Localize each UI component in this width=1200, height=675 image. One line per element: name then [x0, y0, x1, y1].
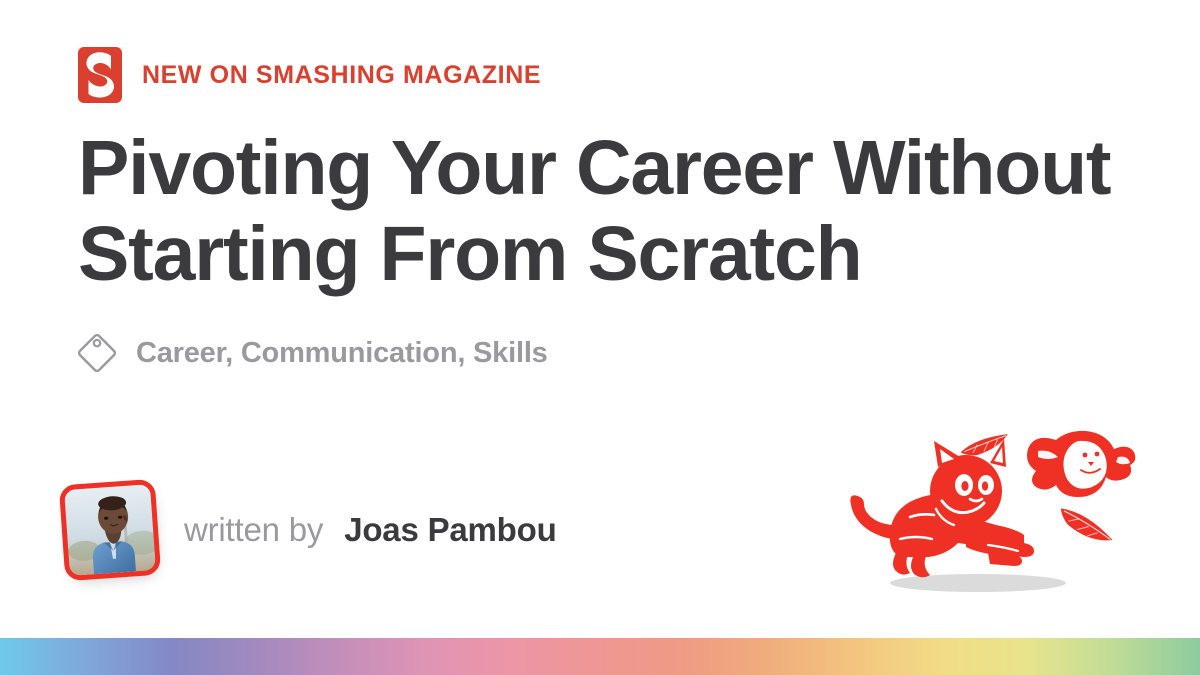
rainbow-accent-bar: [0, 638, 1200, 675]
article-title-line-1: Pivoting Your Career Without: [78, 125, 1158, 211]
kicker-label: NEW ON SMASHING MAGAZINE: [142, 63, 541, 88]
flying-bird-icon: [1027, 431, 1135, 497]
article-title: Pivoting Your Career Without Starting Fr…: [78, 125, 1158, 297]
avatar-frame: [59, 479, 161, 581]
author-name: Joas Pambou: [344, 511, 556, 548]
ground-shadow-icon: [890, 574, 1066, 592]
avatar: [59, 479, 161, 581]
running-cat-icon: [850, 439, 1034, 577]
article-share-card: NEW ON SMASHING MAGAZINE Pivoting Your C…: [0, 0, 1200, 675]
article-tags-label: Career, Communication, Skills: [136, 339, 548, 368]
feather-bottom-icon: [1056, 500, 1114, 553]
smashing-cat-and-bird-illustration: [838, 405, 1148, 605]
tag-icon: [76, 332, 118, 374]
author-prefix: written by: [184, 511, 323, 548]
article-tags: Career, Communication, Skills: [76, 332, 548, 374]
article-title-line-2: Starting From Scratch: [78, 211, 1158, 297]
avatar-photo: [64, 484, 156, 576]
smashing-s-logo-icon: [76, 47, 124, 103]
article-author: written by Joas Pambou: [62, 482, 557, 578]
brand-kicker: NEW ON SMASHING MAGAZINE: [76, 46, 541, 104]
author-byline: written by Joas Pambou: [184, 513, 557, 548]
